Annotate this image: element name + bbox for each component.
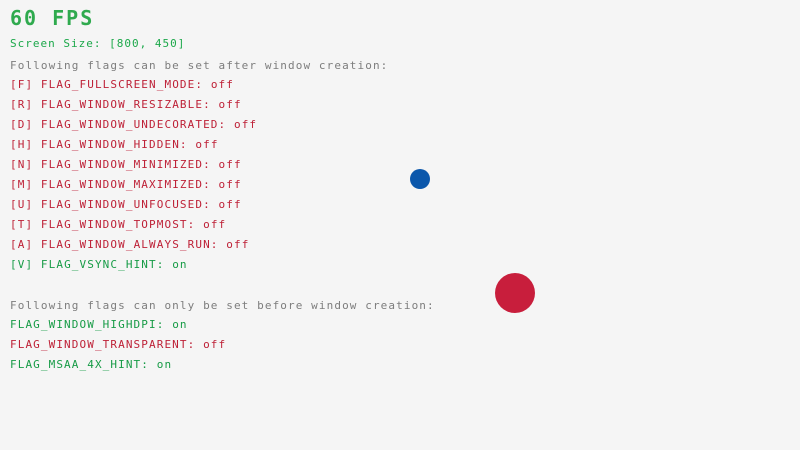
flag-row[interactable]: [N] FLAG_WINDOW_MINIMIZED: off (10, 159, 257, 179)
flag-key: [F] (10, 78, 33, 91)
flag-row[interactable]: [F] FLAG_FULLSCREEN_MODE: off (10, 79, 257, 99)
flag-row[interactable]: [D] FLAG_WINDOW_UNDECORATED: off (10, 119, 257, 139)
flag-list-before-creation: FLAG_WINDOW_HIGHDPI: onFLAG_WINDOW_TRANS… (10, 319, 226, 379)
flag-name: FLAG_WINDOW_TOPMOST: (41, 218, 195, 231)
flag-key: [U] (10, 198, 33, 211)
flag-name: FLAG_WINDOW_UNDECORATED: (41, 118, 226, 131)
flag-name: FLAG_VSYNC_HINT: (41, 258, 165, 271)
flag-value: off (211, 78, 234, 91)
flag-name: FLAG_MSAA_4X_HINT: (10, 358, 149, 371)
flag-row[interactable]: [U] FLAG_WINDOW_UNFOCUSED: off (10, 199, 257, 219)
flag-list-after-creation: [F] FLAG_FULLSCREEN_MODE: off[R] FLAG_WI… (10, 79, 257, 279)
flag-row[interactable]: FLAG_WINDOW_TRANSPARENT: off (10, 339, 226, 359)
flag-key: [R] (10, 98, 33, 111)
flag-key: [H] (10, 138, 33, 151)
flag-key: [A] (10, 238, 33, 251)
flag-value: off (226, 238, 249, 251)
flag-value: off (219, 98, 242, 111)
flag-value: off (219, 158, 242, 171)
flag-name: FLAG_WINDOW_MAXIMIZED: (41, 178, 211, 191)
flag-value: on (172, 318, 187, 331)
flag-name: FLAG_WINDOW_ALWAYS_RUN: (41, 238, 219, 251)
flag-value: off (219, 198, 242, 211)
flag-value: off (219, 178, 242, 191)
screen-size-label: Screen Size: [800, 450] (10, 38, 185, 49)
flag-name: FLAG_WINDOW_HIDDEN: (41, 138, 188, 151)
flag-row[interactable]: [M] FLAG_WINDOW_MAXIMIZED: off (10, 179, 257, 199)
flag-row[interactable]: [T] FLAG_WINDOW_TOPMOST: off (10, 219, 257, 239)
flag-key: [T] (10, 218, 33, 231)
flag-key: [V] (10, 258, 33, 271)
flag-name: FLAG_WINDOW_HIGHDPI: (10, 318, 164, 331)
flag-row[interactable]: [R] FLAG_WINDOW_RESIZABLE: off (10, 99, 257, 119)
flag-name: FLAG_WINDOW_UNFOCUSED: (41, 198, 211, 211)
flag-name: FLAG_WINDOW_RESIZABLE: (41, 98, 211, 111)
flag-key: [D] (10, 118, 33, 131)
flag-row[interactable]: FLAG_WINDOW_HIGHDPI: on (10, 319, 226, 339)
flag-row[interactable]: [V] FLAG_VSYNC_HINT: on (10, 259, 257, 279)
flag-row[interactable]: FLAG_MSAA_4X_HINT: on (10, 359, 226, 379)
fps-counter: 60 FPS (10, 8, 94, 28)
circle-maroon (495, 273, 535, 313)
flag-value: on (157, 358, 172, 371)
flag-row[interactable]: [H] FLAG_WINDOW_HIDDEN: off (10, 139, 257, 159)
raylib-window-canvas[interactable]: 60 FPS Screen Size: [800, 450] Following… (0, 0, 800, 450)
flag-value: off (195, 138, 218, 151)
flag-value: off (203, 338, 226, 351)
flag-value: on (172, 258, 187, 271)
flag-key: [N] (10, 158, 33, 171)
flag-key: [M] (10, 178, 33, 191)
section-header-after-creation: Following flags can be set after window … (10, 60, 388, 71)
section-header-before-creation: Following flags can only be set before w… (10, 300, 435, 311)
circle-blue (410, 169, 430, 189)
flag-value: off (203, 218, 226, 231)
flag-name: FLAG_WINDOW_TRANSPARENT: (10, 338, 195, 351)
flag-name: FLAG_FULLSCREEN_MODE: (41, 78, 203, 91)
flag-value: off (234, 118, 257, 131)
flag-name: FLAG_WINDOW_MINIMIZED: (41, 158, 211, 171)
flag-row[interactable]: [A] FLAG_WINDOW_ALWAYS_RUN: off (10, 239, 257, 259)
